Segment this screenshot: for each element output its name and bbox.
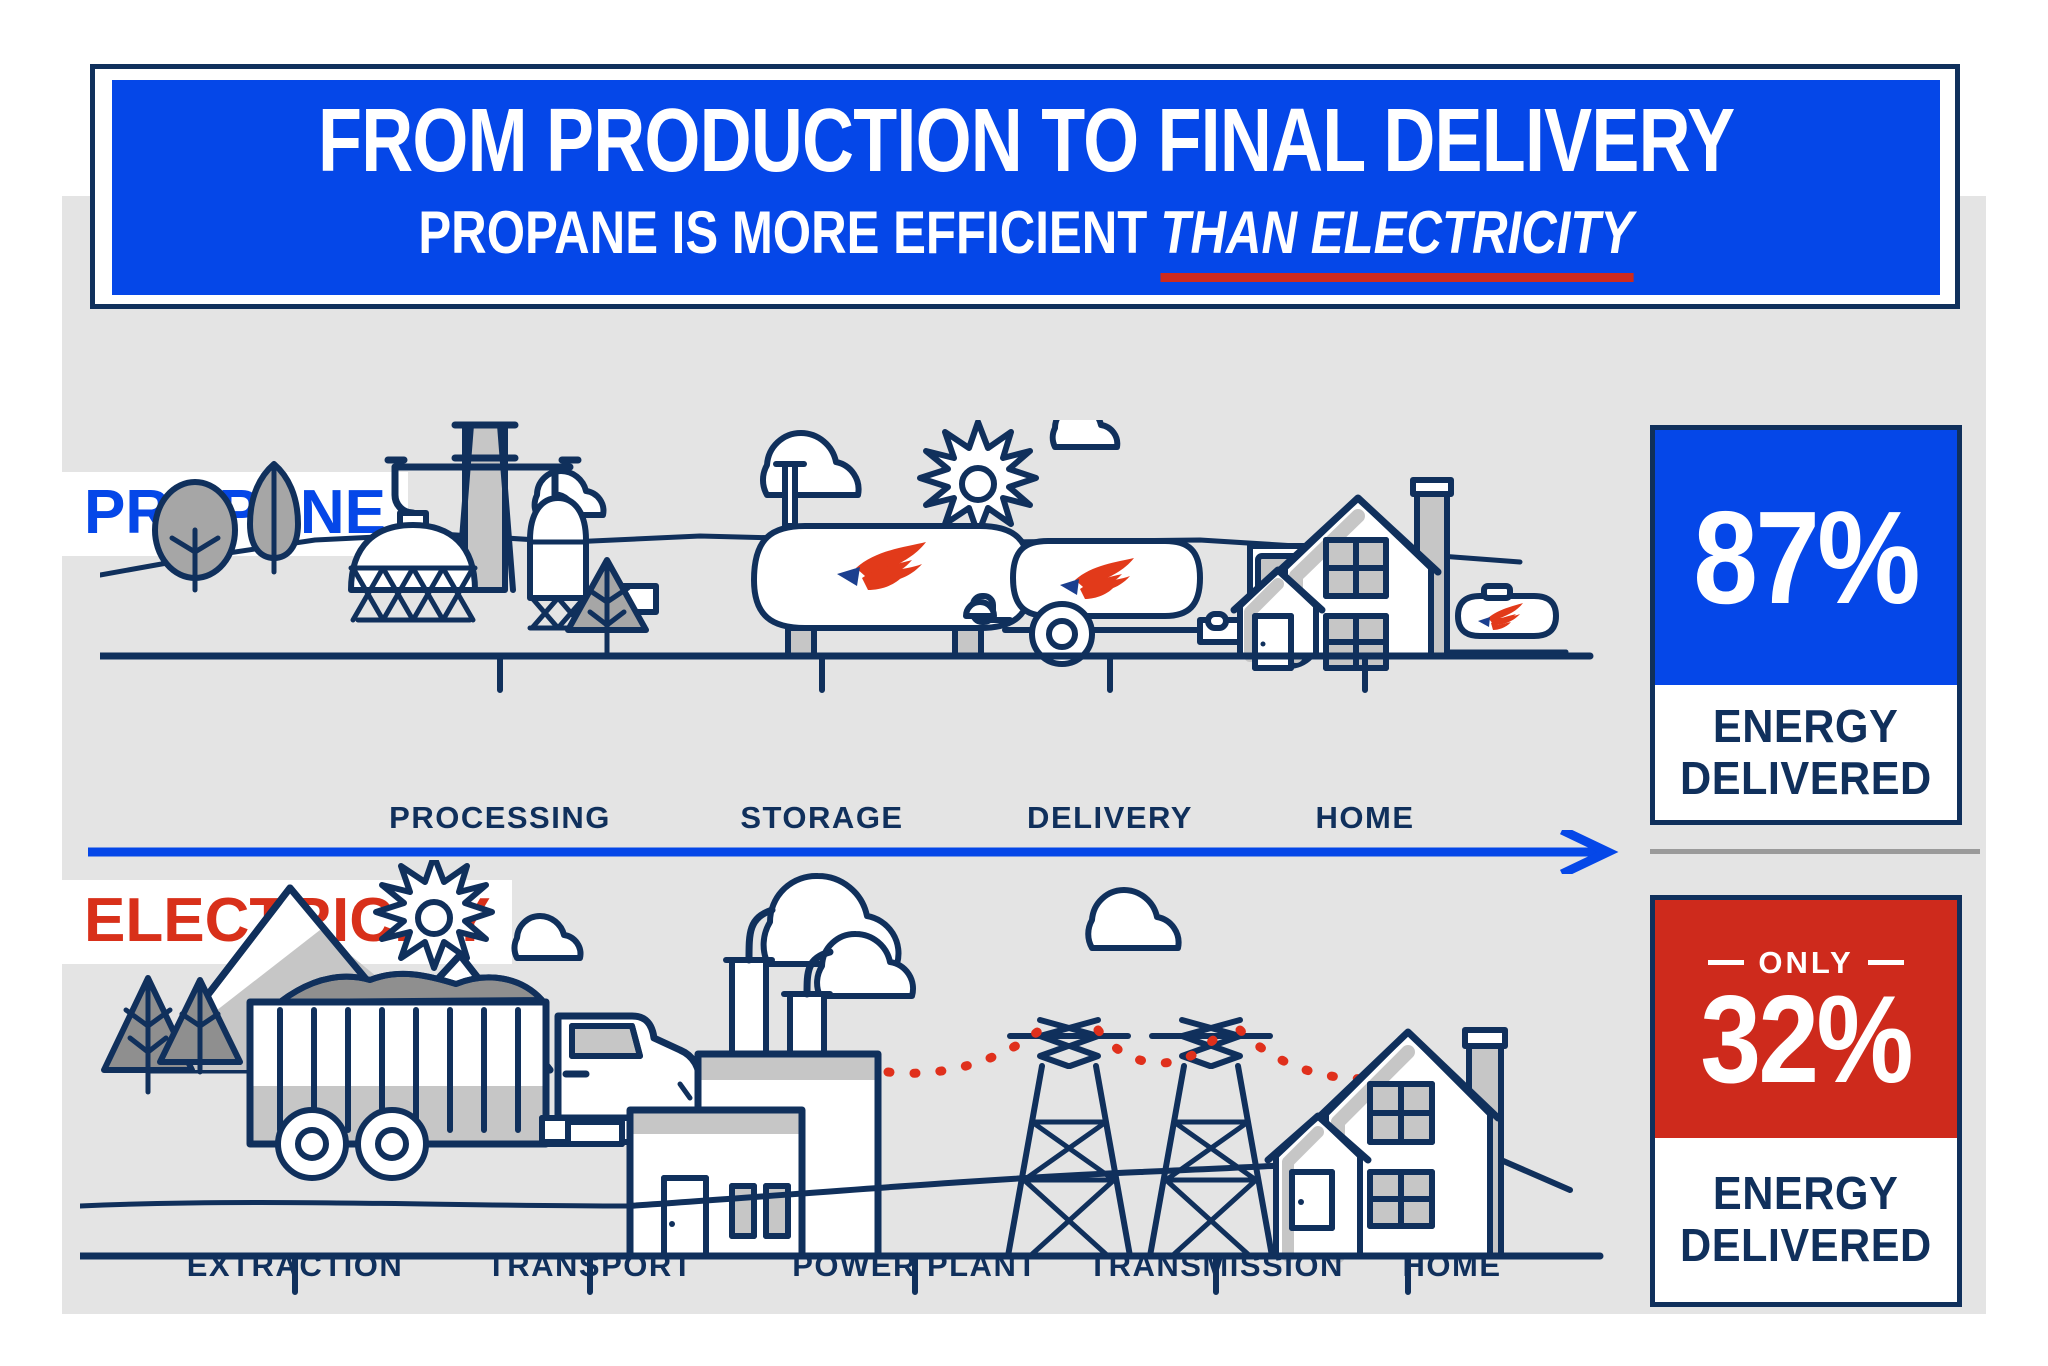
tree-icon [155,482,235,590]
transmission-tower-icon [1150,1020,1272,1256]
caption-line-2: DELIVERED [1680,1220,1932,1272]
subtitle-plain: PROPANE IS MORE EFFICIENT [419,198,1148,267]
wheel-icon [358,1110,426,1178]
wheel-icon [278,1110,346,1178]
cloud-icon [514,916,580,958]
header-banner: FROM PRODUCTION TO FINAL DELIVERY PROPAN… [112,80,1940,295]
caption-line-2: DELIVERED [1680,753,1932,805]
infographic-root: FROM PRODUCTION TO FINAL DELIVERY PROPAN… [0,0,2048,1366]
stat-badge-propane-caption: ENERGY DELIVERED [1655,685,1957,820]
caption-line-1: ENERGY [1713,701,1898,753]
cloud-icon [1088,890,1178,948]
stat-badge-electricity-value-area: ONLY 32% [1655,900,1957,1138]
stage-label-transmission: TRANSMISSION [1088,1248,1344,1284]
electricity-illustration [80,860,1640,1300]
stat-badge-electricity-caption: ENERGY DELIVERED [1655,1138,1957,1302]
section-divider [1650,849,1980,854]
stat-value-electricity: 32% [1701,983,1911,1097]
stage-label-transport: TRANSPORT [487,1248,693,1284]
stat-value-propane: 87% [1694,497,1919,618]
page-title: FROM PRODUCTION TO FINAL DELIVERY [318,97,1734,185]
sun-icon [376,860,492,968]
stat-badge-propane-value-area: 87% [1655,430,1957,685]
tree-icon [250,464,298,572]
stage-label-home: HOME [1403,1248,1502,1284]
header-subtitle: PROPANE IS MORE EFFICIENT THAN ELECTRICI… [419,198,1634,282]
transmission-tower-icon [1008,1020,1130,1256]
power-line [888,1030,1380,1079]
stage-label-power-plant: POWER PLANT [792,1248,1038,1284]
stat-badge-propane: 87% ENERGY DELIVERED [1650,425,1962,825]
dash-left-icon [1708,960,1744,965]
subtitle-emphasis: THAN ELECTRICITY [1161,198,1634,282]
dash-right-icon [1868,960,1904,965]
sun-icon [920,422,1036,534]
propane-illustration [100,420,1620,820]
caption-line-1: ENERGY [1713,1168,1898,1220]
cloud-icon [1053,420,1118,447]
stage-label-extraction: EXTRACTION [187,1248,404,1284]
stat-badge-electricity: ONLY 32% ENERGY DELIVERED [1650,895,1962,1307]
